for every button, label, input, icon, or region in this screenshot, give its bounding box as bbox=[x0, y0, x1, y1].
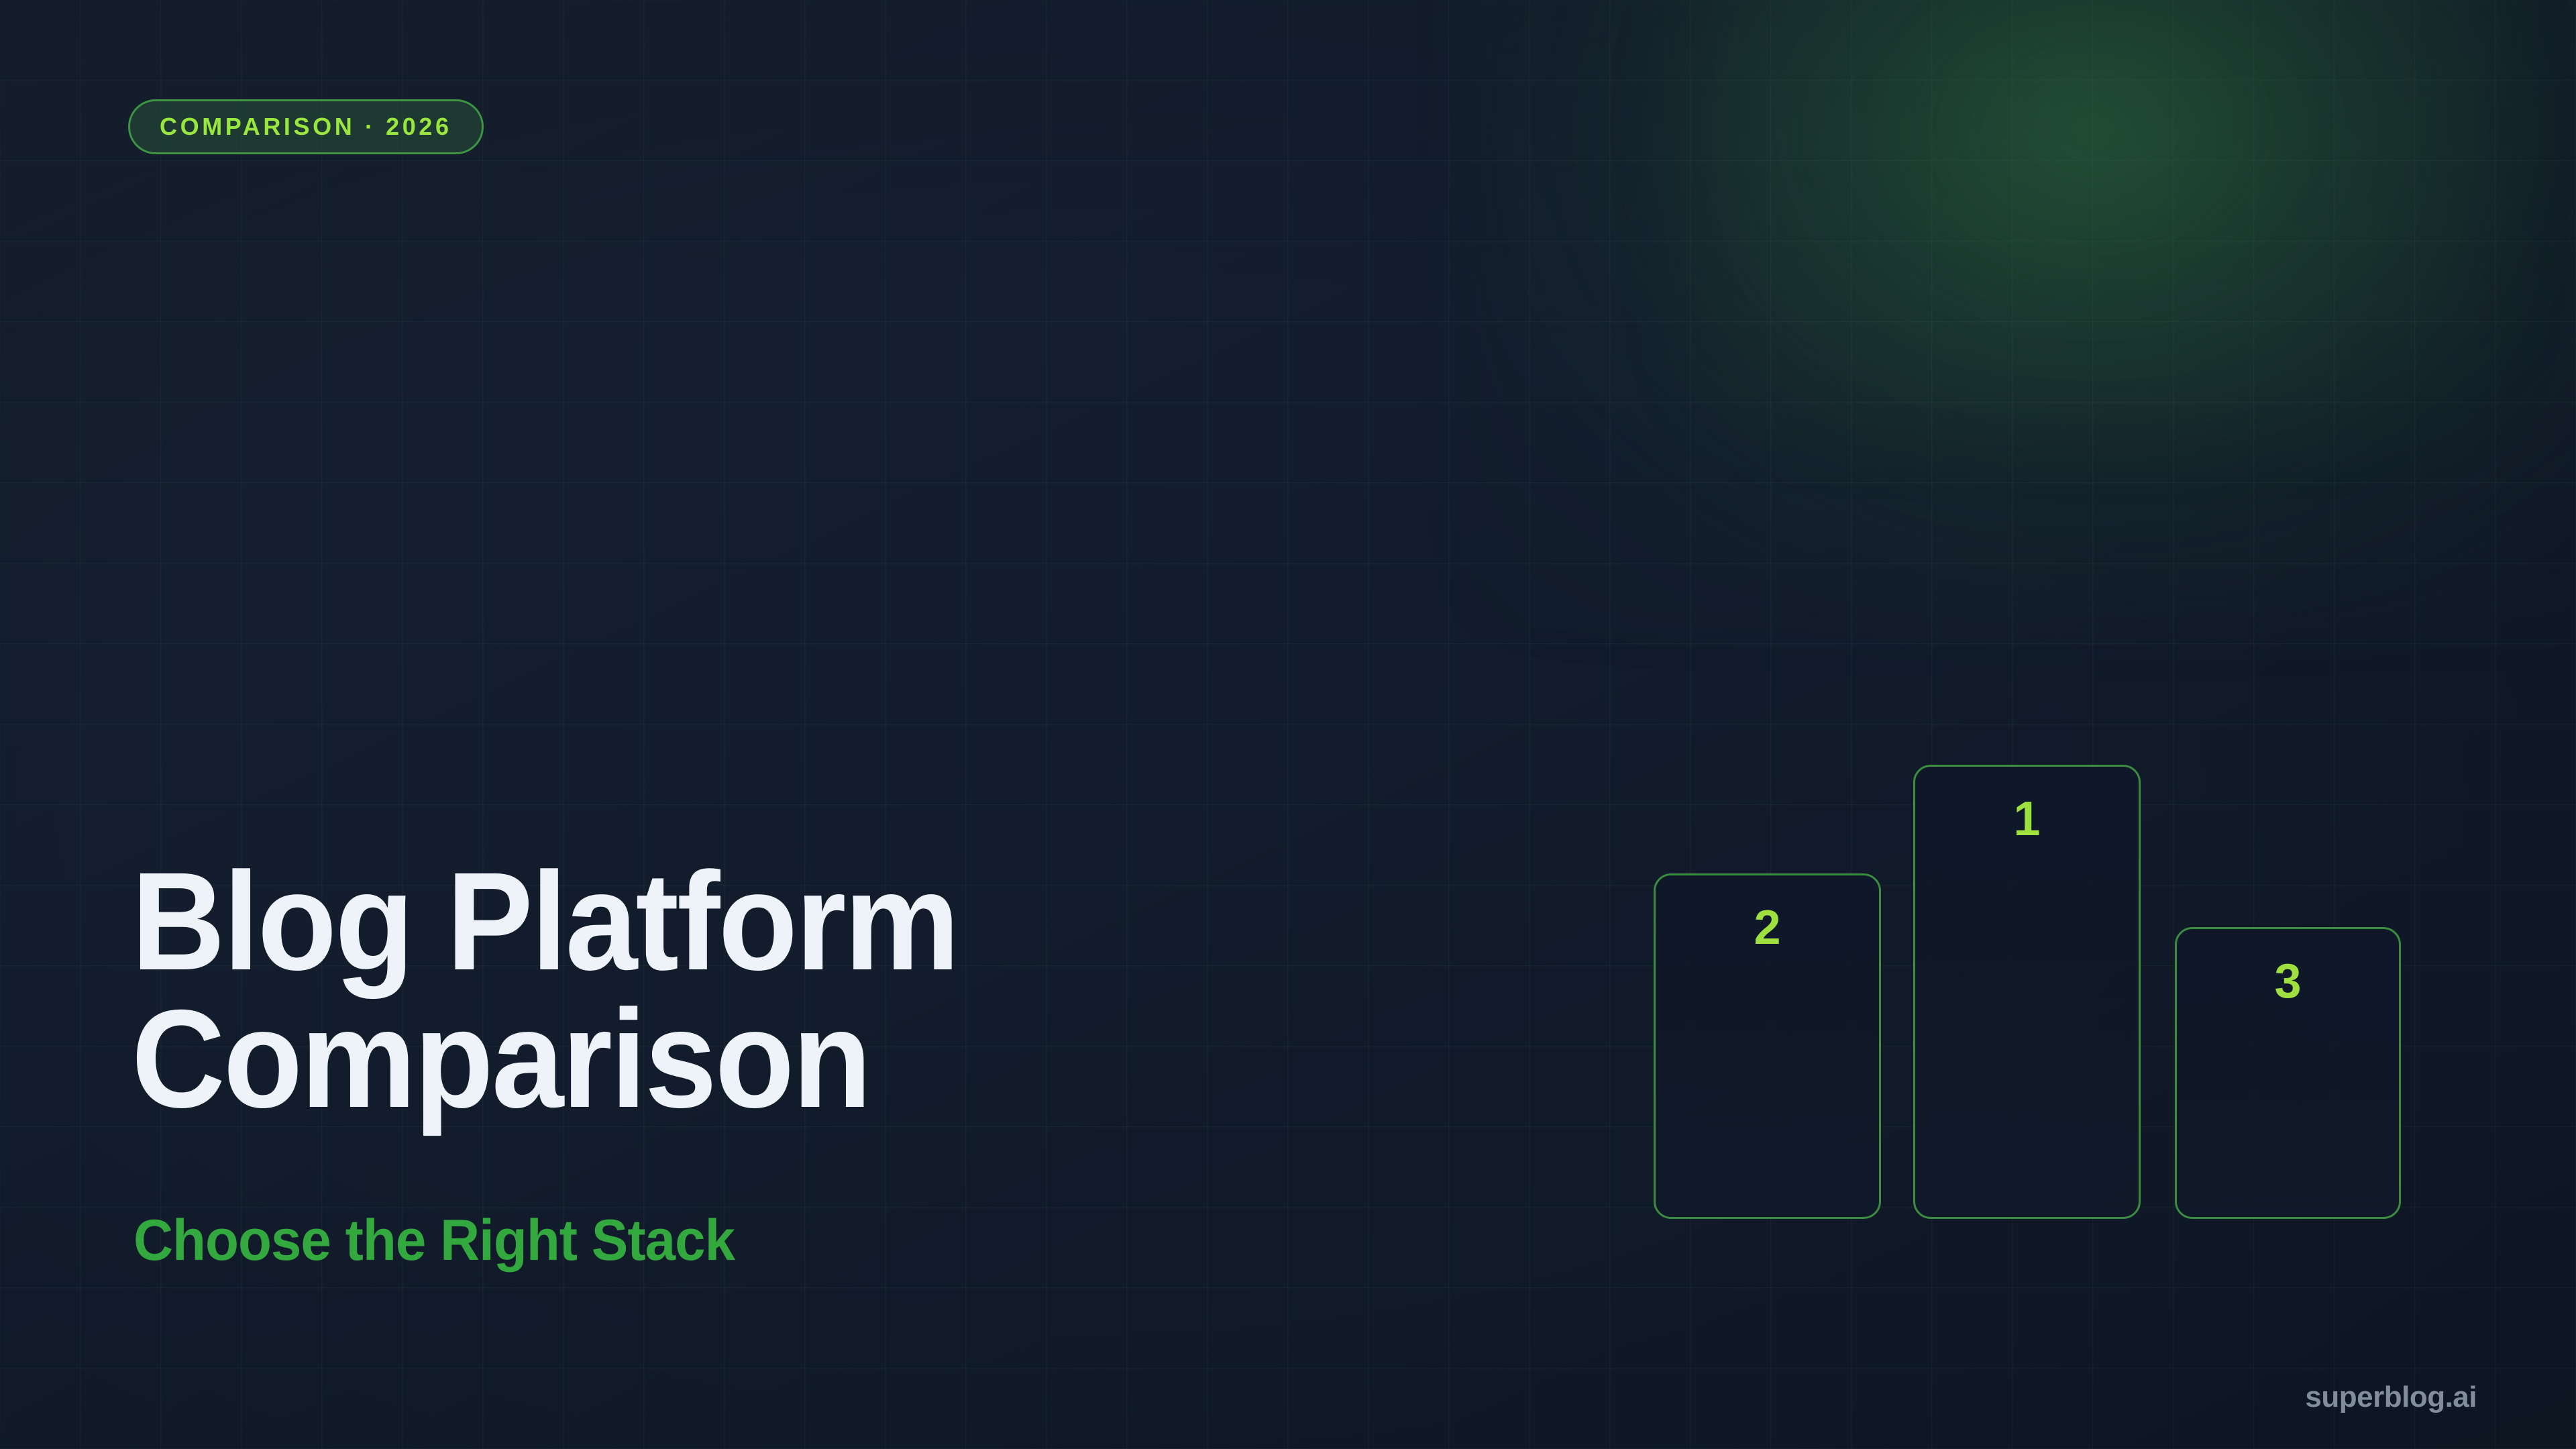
category-badge-label: COMPARISON · 2026 bbox=[160, 113, 452, 141]
podium-rank-label: 2 bbox=[1754, 904, 1780, 1217]
category-badge: COMPARISON · 2026 bbox=[128, 99, 484, 154]
page-title-line-1: Blog Platform bbox=[131, 853, 1317, 991]
page-subtitle: Choose the Right Stack bbox=[133, 1207, 735, 1274]
podium-bar-rank-3[interactable]: 3 bbox=[2175, 927, 2401, 1219]
podium-bar-rank-2[interactable]: 2 bbox=[1654, 873, 1881, 1219]
page-title: Blog Platform Comparison bbox=[131, 853, 1406, 1128]
podium-rank-label: 3 bbox=[2274, 957, 2301, 1217]
page-title-line-2: Comparison bbox=[131, 991, 1317, 1128]
slide-canvas: COMPARISON · 2026 Blog Platform Comparis… bbox=[0, 0, 2576, 1449]
podium-rank-label: 1 bbox=[2013, 795, 2040, 1217]
podium-bar-rank-1[interactable]: 1 bbox=[1913, 765, 2141, 1219]
brand-watermark: superblog.ai bbox=[2305, 1381, 2477, 1414]
